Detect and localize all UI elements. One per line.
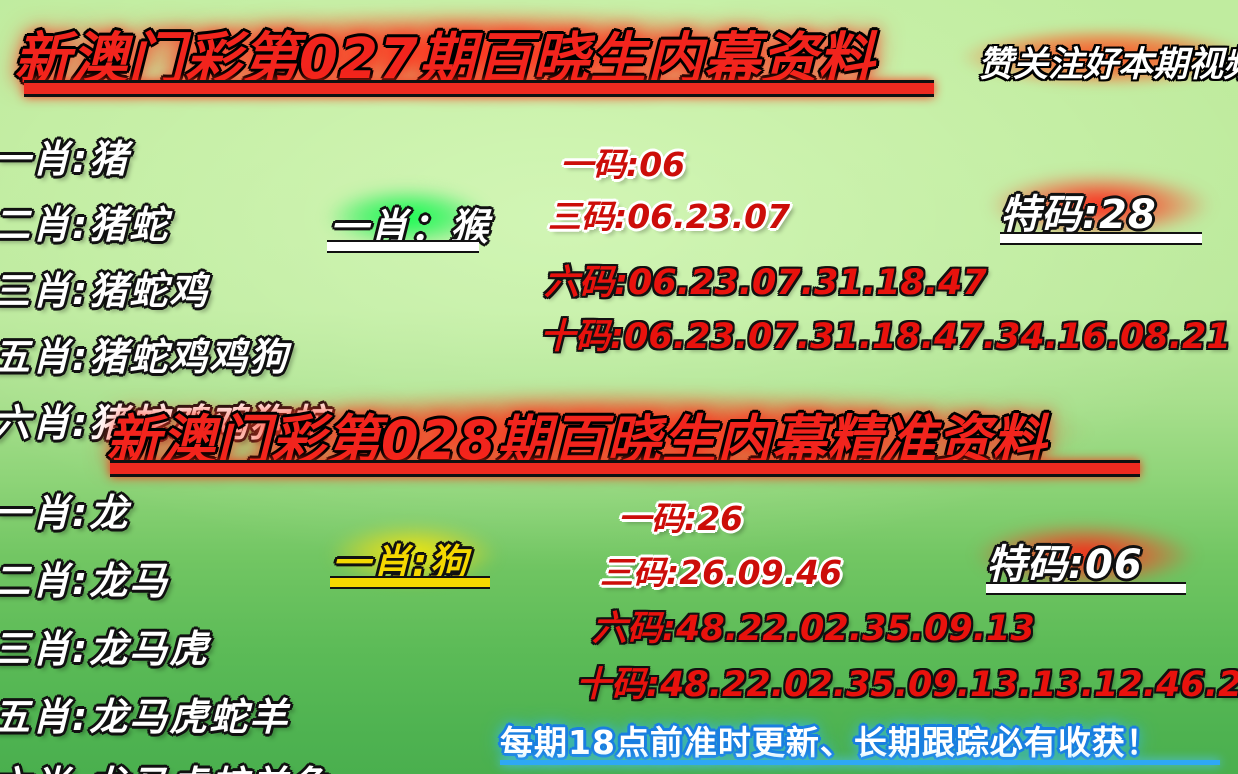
code-line-ten: 十码:06.23.07.31.18.47.34.16.08.21 <box>540 308 1231 359</box>
zodiac-line: 三肖:龙马虎 <box>0 618 412 673</box>
title-underline-2 <box>110 460 1140 477</box>
zodiac-line: 五肖:龙马虎蛇羊 <box>0 686 412 741</box>
pick-underline-027 <box>327 240 479 253</box>
zodiac-line: 五肖:猪蛇鸡鸡狗 <box>0 326 412 381</box>
code-line-three: 三码:26.09.46 <box>600 546 842 594</box>
code-line-one: 一码:06 <box>560 138 685 186</box>
zodiac-line: 一肖:猪 <box>0 128 412 183</box>
poster-canvas: 新澳门彩第027期百晓生内幕资料 赞关注好本期视频 一肖:猪 二肖:猪蛇 三肖:… <box>0 0 1238 774</box>
code-line-six: 六码:06.23.07.31.18.47 <box>544 254 987 305</box>
code-line-one: 一码:26 <box>618 492 743 540</box>
update-schedule-banner: 每期18点前准时更新、长期跟踪必有收获！ <box>500 716 1160 764</box>
banner-underline <box>500 760 1220 765</box>
code-line-ten: 十码:48.22.02.35.09.13.13.12.46.26.03 <box>576 656 1238 707</box>
follow-notice: 赞关注好本期视频 <box>978 36 1238 87</box>
pick-underline-028 <box>330 576 490 589</box>
code-line-three: 三码:06.23.07 <box>548 190 790 238</box>
title-underline-1 <box>24 80 934 97</box>
code-line-six: 六码:48.22.02.35.09.13 <box>592 600 1035 651</box>
special-underline-027 <box>1000 232 1202 245</box>
zodiac-line: 六肖:龙马虎蛇羊兔 <box>0 754 412 774</box>
zodiac-line: 三肖:猪蛇鸡 <box>0 260 412 315</box>
special-underline-028 <box>986 582 1186 595</box>
